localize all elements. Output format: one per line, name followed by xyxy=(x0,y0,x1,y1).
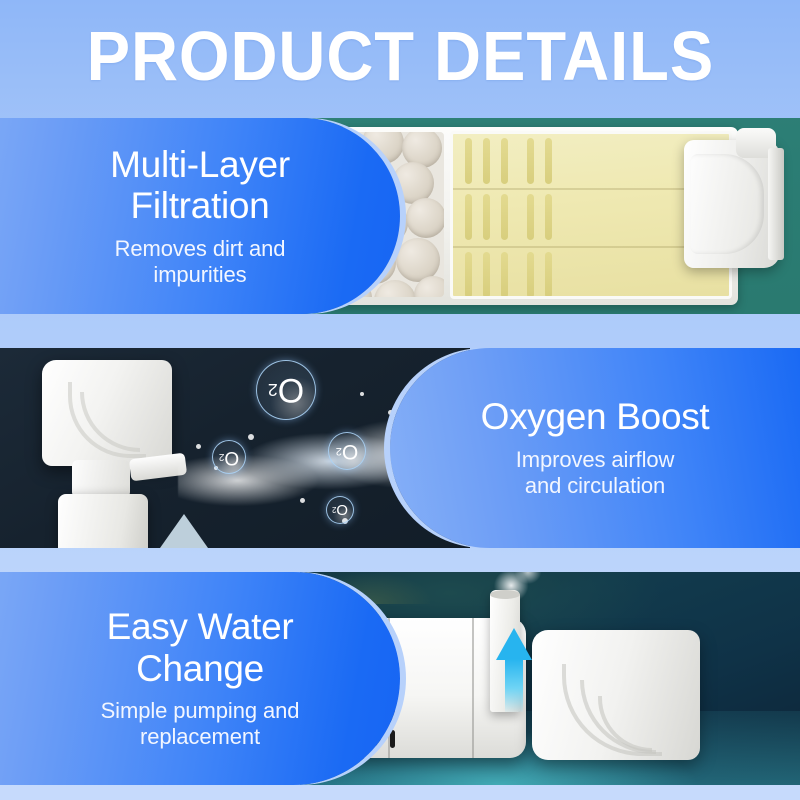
upward-flow-arrow-icon xyxy=(496,628,532,712)
feature-subtitle-water-change: Simple pumping and replacement xyxy=(101,698,300,751)
feature-title-line1: Easy Water xyxy=(107,606,294,647)
feature-subtitle-line2: replacement xyxy=(140,724,260,749)
oxygen-bubble-icon: O2 xyxy=(326,496,354,524)
feature-text-pane-water-change: Easy Water Change Simple pumping and rep… xyxy=(0,572,400,785)
feature-subtitle-filtration: Removes dirt and impurities xyxy=(115,236,286,289)
feature-title-filtration: Multi-Layer Filtration xyxy=(110,144,290,227)
pump-stem-graphic xyxy=(72,460,130,498)
page-title: PRODUCT DETAILS xyxy=(86,21,714,91)
feature-subtitle-line1: Simple pumping and xyxy=(101,698,300,723)
pump-base-graphic xyxy=(58,494,148,548)
feature-panel-oxygen-boost: O2 O2 O2 O2 O2 Oxygen Boost Improves air… xyxy=(0,348,800,548)
feature-text-pane-filtration: Multi-Layer Filtration Removes dirt and … xyxy=(0,118,400,314)
feature-title-line2: Filtration xyxy=(131,185,270,226)
page-header: PRODUCT DETAILS xyxy=(0,0,800,112)
feature-title-oxygen-boost: Oxygen Boost xyxy=(481,396,710,437)
feature-subtitle-line1: Improves airflow xyxy=(516,447,675,472)
feature-title-water-change: Easy Water Change xyxy=(107,606,294,689)
pump-motor-head-graphic xyxy=(684,140,780,268)
pump-head-graphic xyxy=(532,630,700,760)
feature-subtitle-line1: Removes dirt and xyxy=(115,236,286,261)
decorative-rock-graphic xyxy=(160,514,208,548)
oxygen-bubble-icon: O2 xyxy=(328,432,366,470)
feature-panel-easy-water-change: Easy Water Change Simple pumping and rep… xyxy=(0,572,800,785)
feature-subtitle-line2: impurities xyxy=(153,262,246,287)
pump-body-graphic xyxy=(42,360,172,466)
feature-subtitle-line2: and circulation xyxy=(525,473,665,498)
feature-title-line1: Multi-Layer xyxy=(110,144,290,185)
feature-text-pane-oxygen-boost: Oxygen Boost Improves airflow and circul… xyxy=(390,348,800,548)
feature-subtitle-oxygen-boost: Improves airflow and circulation xyxy=(516,447,675,500)
oxygen-bubble-icon: O2 xyxy=(256,360,316,420)
feature-title-line2: Change xyxy=(136,648,264,689)
oxygen-bubble-icon: O2 xyxy=(212,440,246,474)
feature-panel-multi-layer-filtration: Multi-Layer Filtration Removes dirt and … xyxy=(0,118,800,314)
